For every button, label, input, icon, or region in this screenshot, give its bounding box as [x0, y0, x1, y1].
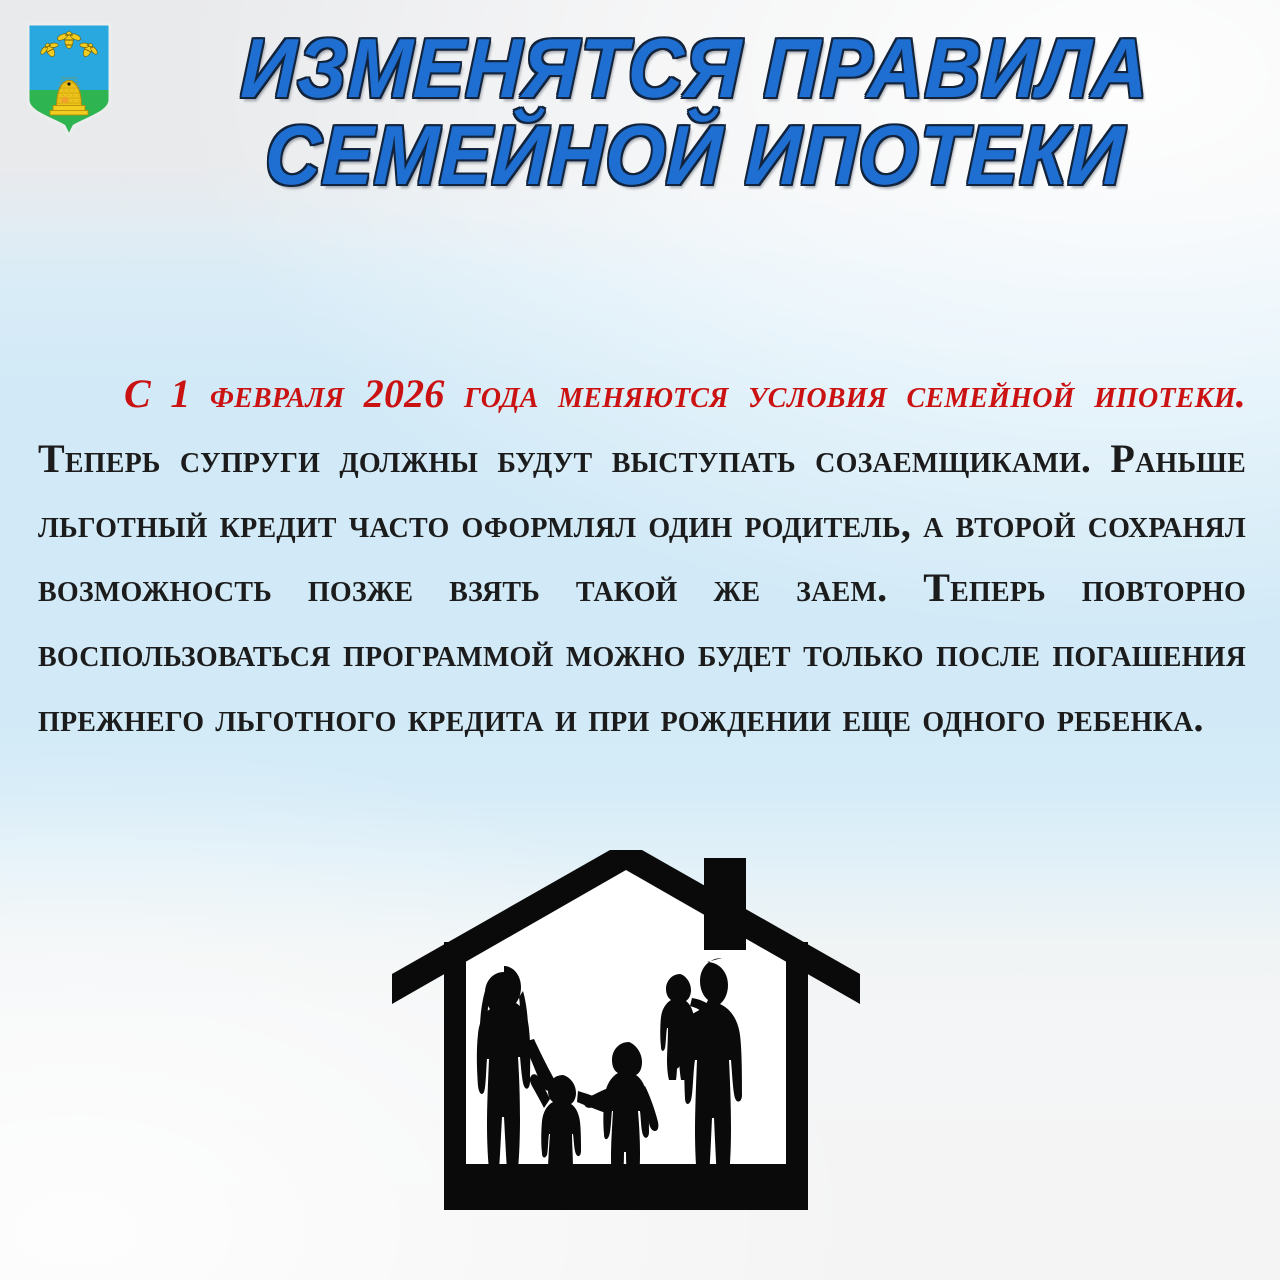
- title-line-2: СЕМЕЙНОЙ ИПОТЕКИ: [192, 115, 1197, 196]
- family-house-illustration: [392, 846, 860, 1218]
- title-line-1: ИЗМЕНЯТСЯ ПРАВИЛА: [192, 28, 1197, 109]
- poster-canvas: ИЗМЕНЯТСЯ ПРАВИЛА СЕМЕЙНОЙ ИПОТЕКИ С 1 ф…: [0, 0, 1280, 1280]
- shield-field: [26, 22, 112, 138]
- poster-body-text: С 1 февраля 2026 года меняются условия с…: [38, 362, 1246, 751]
- body-rest: Теперь супруги должны будут выступать со…: [38, 436, 1246, 740]
- poster-title: ИЗМЕНЯТСЯ ПРАВИЛА СЕМЕЙНОЙ ИПОТЕКИ: [150, 28, 1240, 195]
- lead-sentence: С 1 февраля 2026 года меняются условия с…: [124, 371, 1246, 416]
- coat-of-arms-emblem: [26, 22, 112, 138]
